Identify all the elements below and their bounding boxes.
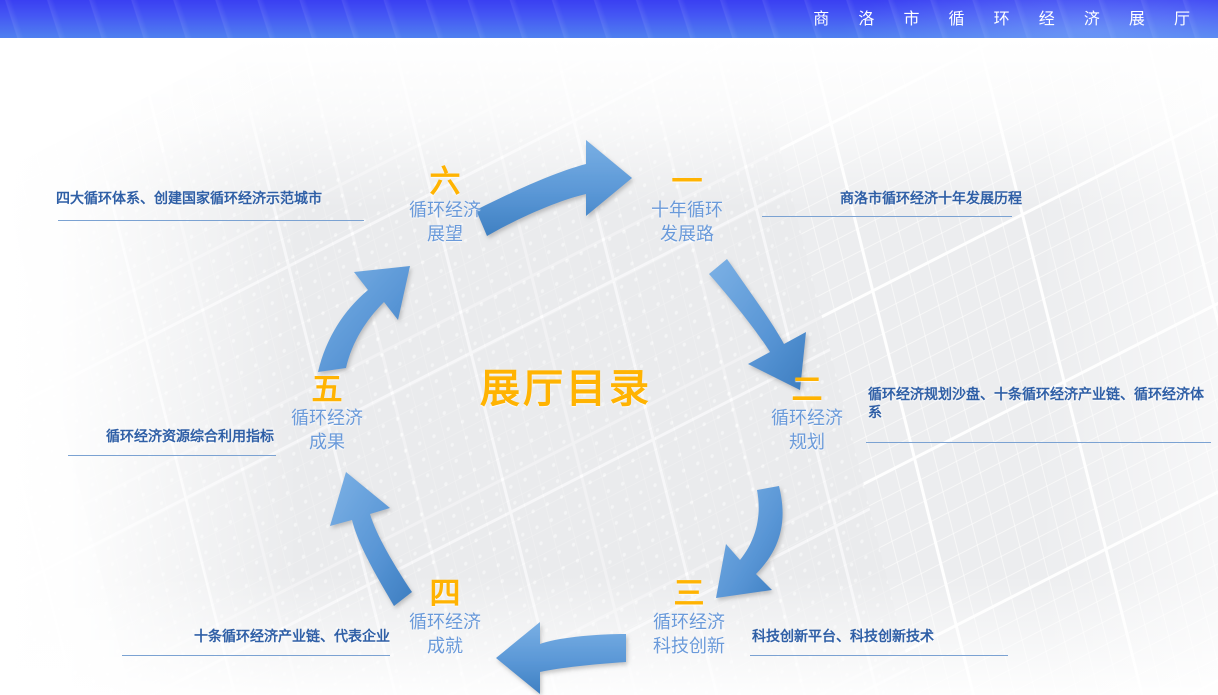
section-two-description: 循环经济规划沙盘、十条循环经济产业链、循环经济体系: [868, 386, 1213, 423]
section-one-label: 十年循环 发展路: [632, 199, 742, 247]
center-title: 展厅目录: [466, 356, 666, 414]
section-three-description: 科技创新平台、科技创新技术: [752, 628, 1012, 646]
section-six-numeral: 六: [390, 166, 500, 199]
slide-stage: 展厅目录 一 十年循环 发展路 商洛市循环经济十年发展历程 二 循环经济 规划 …: [0, 38, 1218, 695]
section-four-rule: [122, 655, 390, 656]
section-three[interactable]: 三 循环经济 科技创新: [630, 578, 748, 659]
section-four-label: 循环经济 成就: [390, 611, 500, 659]
section-one-description: 商洛市循环经济十年发展历程: [782, 190, 1022, 208]
section-six-description: 四大循环体系、创建国家循环经济示范城市: [56, 190, 362, 208]
section-three-rule: [750, 655, 1008, 656]
section-two-label: 循环经济 规划: [752, 407, 862, 455]
section-six[interactable]: 六 循环经济 展望: [390, 166, 500, 247]
page-title: 商 洛 市 循 环 经 济 展 厅: [813, 0, 1202, 38]
section-five-description: 循环经济资源综合利用指标: [58, 428, 274, 446]
section-three-label: 循环经济 科技创新: [630, 611, 748, 659]
section-six-rule: [58, 220, 364, 221]
section-two-rule: [866, 442, 1211, 443]
section-four-description: 十条循环经济产业链、代表企业: [120, 628, 390, 646]
section-one[interactable]: 一 十年循环 发展路: [632, 166, 742, 247]
section-four[interactable]: 四 循环经济 成就: [390, 578, 500, 659]
section-six-label: 循环经济 展望: [390, 199, 500, 247]
section-five-rule: [68, 455, 276, 456]
app-header: 商 洛 市 循 环 经 济 展 厅: [0, 0, 1218, 38]
section-two-numeral: 二: [752, 374, 862, 407]
section-five-label: 循环经济 成果: [272, 407, 382, 455]
section-two[interactable]: 二 循环经济 规划: [752, 374, 862, 455]
section-one-rule: [762, 216, 1012, 217]
section-three-numeral: 三: [630, 578, 748, 611]
section-five-numeral: 五: [272, 374, 382, 407]
background-fade-right: [1038, 38, 1218, 695]
section-five[interactable]: 五 循环经济 成果: [272, 374, 382, 455]
section-four-numeral: 四: [390, 578, 500, 611]
section-one-numeral: 一: [632, 166, 742, 199]
